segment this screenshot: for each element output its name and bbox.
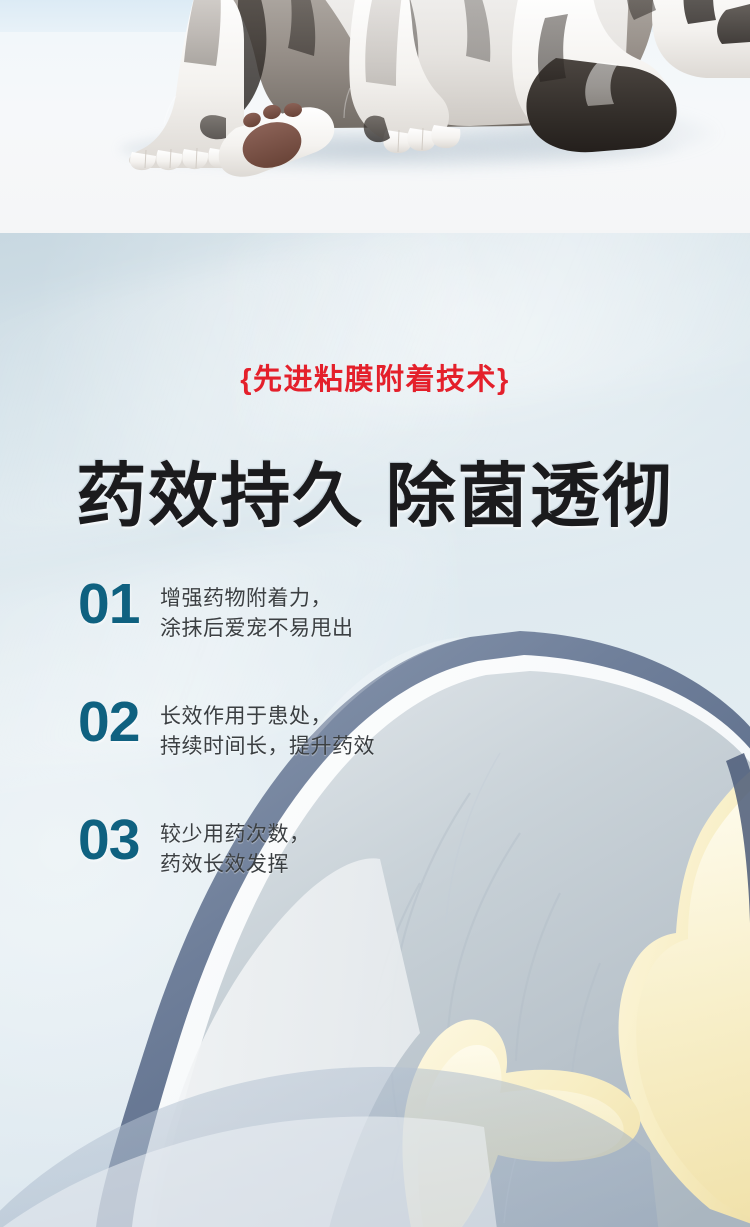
feature-item: 03 较少用药次数， 药效长效发挥 xyxy=(78,812,498,930)
feature-item: 01 增强药物附着力， 涂抹后爱宠不易甩出 xyxy=(78,576,498,694)
feature-number: 01 xyxy=(78,576,139,633)
feature-item: 02 长效作用于患处， 持续时间长，提升药效 xyxy=(78,694,498,812)
section-subtitle: {先进粘膜附着技术} xyxy=(0,366,750,395)
feature-text: 增强药物附着力， 涂抹后爱宠不易甩出 xyxy=(160,584,354,644)
kitten-photo-section xyxy=(0,0,750,233)
feature-list: 01 增强药物附着力， 涂抹后爱宠不易甩出 02 长效作用于患处， 持续时间长，… xyxy=(78,576,498,930)
kitten-paws-photo xyxy=(0,0,750,233)
feature-number: 03 xyxy=(78,812,139,869)
feature-text: 较少用药次数， 药效长效发挥 xyxy=(160,820,311,880)
section-headline: 药效持久 除菌透彻 xyxy=(0,461,750,531)
feature-section: {先进粘膜附着技术} 药效持久 除菌透彻 01 增强药物附着力， 涂抹后爱宠不易… xyxy=(0,233,750,1227)
background-light-streak xyxy=(219,233,750,437)
feature-number: 02 xyxy=(78,694,139,751)
feature-text: 长效作用于患处， 持续时间长，提升药效 xyxy=(160,702,375,762)
product-detail-page: {先进粘膜附着技术} 药效持久 除菌透彻 01 增强药物附着力， 涂抹后爱宠不易… xyxy=(0,0,750,1227)
